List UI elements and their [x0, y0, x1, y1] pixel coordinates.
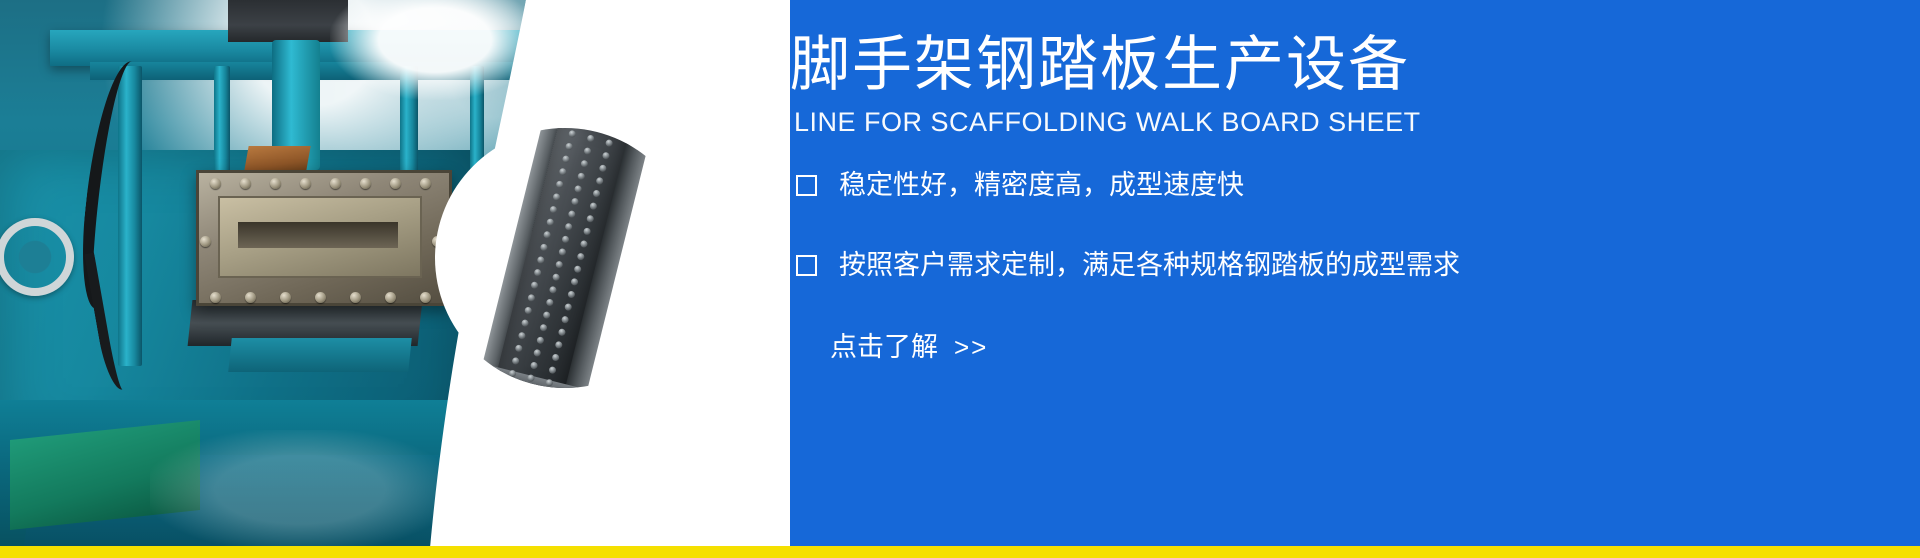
- banner-title: 脚手架钢踏板生产设备: [790, 30, 1410, 100]
- machine-bolt: [300, 178, 311, 189]
- feature-list: 稳定性好，精密度高，成型速度快 按照客户需求定制，满足各种规格钢踏板的成型需求: [796, 168, 1796, 328]
- machine-bolt: [350, 292, 361, 303]
- feature-item-2: 按照客户需求定制，满足各种规格钢踏板的成型需求: [796, 248, 1796, 282]
- machine-bolt: [200, 236, 211, 247]
- machine-bolt: [245, 292, 256, 303]
- feature-item-2-label: 按照客户需求定制，满足各种规格钢踏板的成型需求: [839, 248, 1460, 282]
- machine-bolt: [315, 292, 326, 303]
- machine-bolt: [280, 292, 291, 303]
- machine-die-slot: [238, 222, 398, 248]
- learn-more-link[interactable]: 点击了解 >>: [830, 330, 988, 364]
- learn-more-label: 点击了解: [830, 330, 938, 364]
- machine-bolt: [385, 292, 396, 303]
- machine-bolt: [390, 178, 401, 189]
- chevron-right-icon: >>: [954, 330, 988, 364]
- feature-item-1: 稳定性好，精密度高，成型速度快: [796, 168, 1796, 202]
- machine-rail-lower: [228, 338, 412, 372]
- machine-bolt: [360, 178, 371, 189]
- bottom-accent-strip: [0, 546, 1920, 558]
- photo-highlight-floor: [150, 430, 450, 548]
- machine-bolt: [210, 178, 221, 189]
- checkbox-square-icon: [796, 175, 817, 196]
- banner-subtitle: LINE FOR SCAFFOLDING WALK BOARD SHEET: [794, 106, 1421, 138]
- banner-content: 脚手架钢踏板生产设备 LINE FOR SCAFFOLDING WALK BOA…: [790, 0, 1870, 548]
- machine-bolt: [330, 178, 341, 189]
- feature-item-1-label: 稳定性好，精密度高，成型速度快: [839, 168, 1244, 202]
- machine-bolt: [270, 178, 281, 189]
- steel-walk-board: [474, 128, 668, 388]
- product-inset-circle: [435, 128, 695, 388]
- promo-banner: 脚手架钢踏板生产设备 LINE FOR SCAFFOLDING WALK BOA…: [0, 0, 1920, 558]
- machine-post-2: [214, 66, 230, 186]
- checkbox-square-icon: [796, 255, 817, 276]
- machine-bolt: [210, 292, 221, 303]
- machine-bolt: [240, 178, 251, 189]
